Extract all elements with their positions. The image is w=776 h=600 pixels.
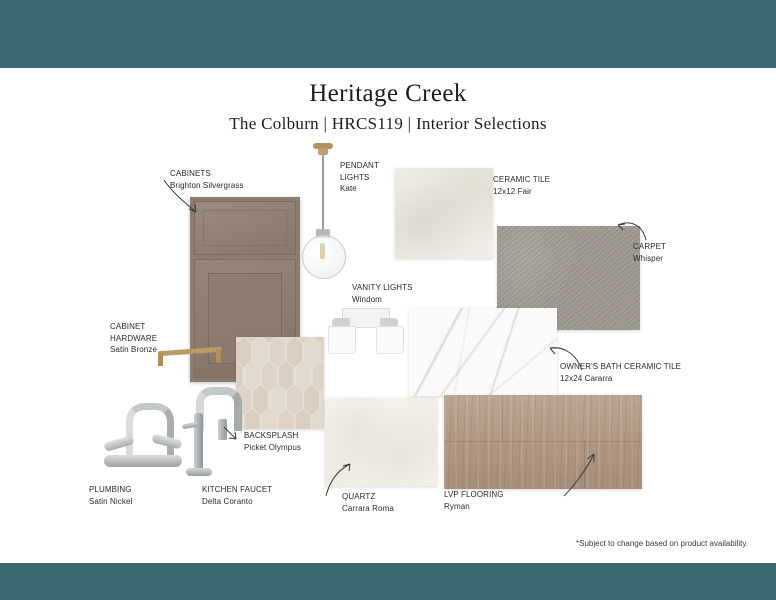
lvp-seam [502,395,503,441]
picket-tile [270,337,285,367]
footnote-disclaimer: *Subject to change based on product avai… [576,539,748,548]
label-quartz-name: QUARTZ [342,491,394,503]
picket-tile [296,361,311,391]
picket-tile [236,361,243,391]
label-plumbing-name: PLUMBING [89,484,132,496]
label-kitchen-faucet: KITCHEN FAUCET Delta Coranto [202,484,272,507]
vanity-shade-left [328,326,356,354]
swatch-ceramic-tile [395,168,493,258]
label-carpet: CARPET Whisper [633,241,666,264]
swatch-owners-bath-tile [409,308,557,396]
label-ceramic-tile-name: CERAMIC TILE [493,174,550,186]
pendant-bulb [320,243,325,259]
swatch-plumbing-faucet [100,393,186,475]
kitchen-faucet-base [186,468,212,476]
top-banner [0,0,776,68]
label-quartz-spec: Carrara Roma [342,503,394,515]
title-block: Heritage Creek The Colburn | HRCS119 | I… [0,80,776,134]
label-ceramic-tile: CERAMIC TILE 12x12 Fair [493,174,550,197]
label-owners-bath-spec: 12x24 Cararra [560,373,681,385]
picket-tile [304,337,319,367]
selections-board: Heritage Creek The Colburn | HRCS119 | I… [0,0,776,600]
label-hardware-name: CABINET [110,321,157,333]
label-cabinets-spec: Brighton Silvergrass [170,180,244,192]
label-kitchen-faucet-name: KITCHEN FAUCET [202,484,272,496]
swatch-quartz [325,398,437,486]
swatch-backsplash [236,337,324,429]
picket-tile [253,385,268,415]
swatch-lvp-flooring [444,395,642,489]
vanity-shade-right [376,326,404,354]
label-backsplash-spec: Picket Olympus [244,442,301,454]
picket-tile [279,361,294,391]
kitchen-faucet-sprayhead [218,419,227,440]
label-pendant-spec: Kate [340,183,379,195]
label-lvp-spec: Ryman [444,501,504,513]
label-lvp-flooring: LVP FLOORING Ryman [444,489,504,512]
label-ceramic-tile-spec: 12x12 Fair [493,186,550,198]
label-plumbing-spec: Satin Nickel [89,496,132,508]
bar-pull [158,347,222,356]
swatch-cabinet-hardware [152,346,224,368]
label-cabinets-name: CABINETS [170,168,244,180]
lvp-seam [444,441,642,442]
picket-tile [270,385,285,415]
label-pendant-name2: LIGHTS [340,172,379,184]
bar-pull-post-left [158,353,163,366]
label-cabinets: CABINETS Brighton Silvergrass [170,168,244,191]
picket-tile [287,337,302,367]
label-backsplash-name: BACKSPLASH [244,430,301,442]
label-kitchen-faucet-spec: Delta Coranto [202,496,272,508]
swatch-vanity-light [326,308,404,354]
cabinet-drawer-front [194,201,296,255]
label-hardware-spec: Satin Bronze [110,344,157,356]
picket-tile [262,361,277,391]
label-carpet-spec: Whisper [633,253,666,265]
lav-faucet-base [104,455,182,467]
picket-tile [236,337,251,367]
picket-tile [253,337,268,367]
label-hardware-name2: HARDWARE [110,333,157,345]
label-backsplash: BACKSPLASH Picket Olympus [244,430,301,453]
picket-tile [313,361,325,391]
label-pendant-name: PENDANT [340,160,379,172]
bottom-banner [0,563,776,600]
label-lvp-name: LVP FLOORING [444,489,504,501]
label-vanity-name: VANITY LIGHTS [352,282,413,294]
page-title: Heritage Creek [0,80,776,108]
label-carpet-name: CARPET [633,241,666,253]
swatch-kitchen-faucet [178,383,236,483]
label-vanity-lights: VANITY LIGHTS Windom [352,282,413,305]
label-vanity-spec: Windom [352,294,413,306]
bar-pull-post-right [216,350,221,363]
picket-tile [304,385,319,415]
pendant-rod [322,154,324,232]
label-owners-bath-name: OWNER'S BATH CERAMIC TILE [560,361,681,373]
label-quartz: QUARTZ Carrara Roma [342,491,394,514]
lvp-seam [584,441,585,489]
page-subtitle: The Colburn | HRCS119 | Interior Selecti… [0,114,776,134]
picket-tile [287,385,302,415]
label-cabinet-hardware: CABINET HARDWARE Satin Bronze [110,321,157,356]
label-pendant-lights: PENDANT LIGHTS Kate [340,160,379,195]
picket-tile [245,361,260,391]
label-plumbing: PLUMBING Satin Nickel [89,484,132,507]
label-owners-bath-tile: OWNER'S BATH CERAMIC TILE 12x24 Cararra [560,361,681,384]
